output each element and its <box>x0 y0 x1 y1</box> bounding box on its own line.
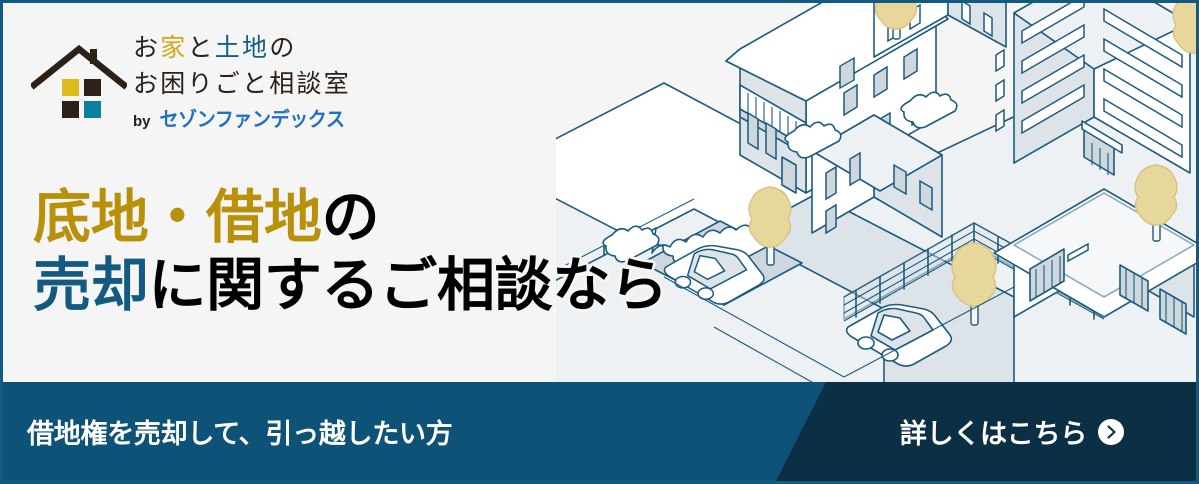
logo-byline: by セゾンファンデックス <box>133 111 351 130</box>
bottom-bar: 借地権を売却して、引っ越したい方 詳しくはこちら <box>3 382 1196 481</box>
headline: 底地・借地の 売却に関するご相談なら <box>33 189 668 315</box>
logo-l1-p4: 土地 <box>215 34 270 62</box>
logo-by-label: by <box>133 114 151 129</box>
logo-l1-p2: 家 <box>160 34 187 62</box>
logo-l1-p3: と <box>188 34 215 62</box>
headline-line2-rest: に関するご相談なら <box>148 253 667 318</box>
bottom-bar-message: 借地権を売却して、引っ越したい方 <box>27 382 453 481</box>
logo-brand-name: セゾンファンデックス <box>160 110 345 130</box>
headline-line-2: 売却に関するご相談なら <box>33 257 668 314</box>
logo-tagline-line1: お家と土地の <box>133 31 351 67</box>
logo-tagline-line2: お困りごと相談室 <box>133 67 351 103</box>
house-logo-icon <box>31 33 127 119</box>
chevron-right-circle-icon <box>1098 419 1124 445</box>
details-cta-button[interactable]: 詳しくはこちら <box>900 382 1124 481</box>
headline-line2-highlight: 売却 <box>33 253 148 318</box>
details-cta-label: 詳しくはこちら <box>900 412 1087 451</box>
headline-line1-highlight: 底地・借地 <box>33 185 322 250</box>
logo-l1-p1: お <box>133 34 160 62</box>
headline-line-1: 底地・借地の <box>33 189 668 246</box>
promo-banner: .ln{fill:none;stroke:#1d5b7e;stroke-widt… <box>0 0 1199 484</box>
brand-logo[interactable]: お家と土地の お困りごと相談室 by セゾンファンデックス <box>31 25 351 130</box>
headline-line1-rest: の <box>322 185 380 250</box>
logo-l1-p5: の <box>269 34 296 62</box>
